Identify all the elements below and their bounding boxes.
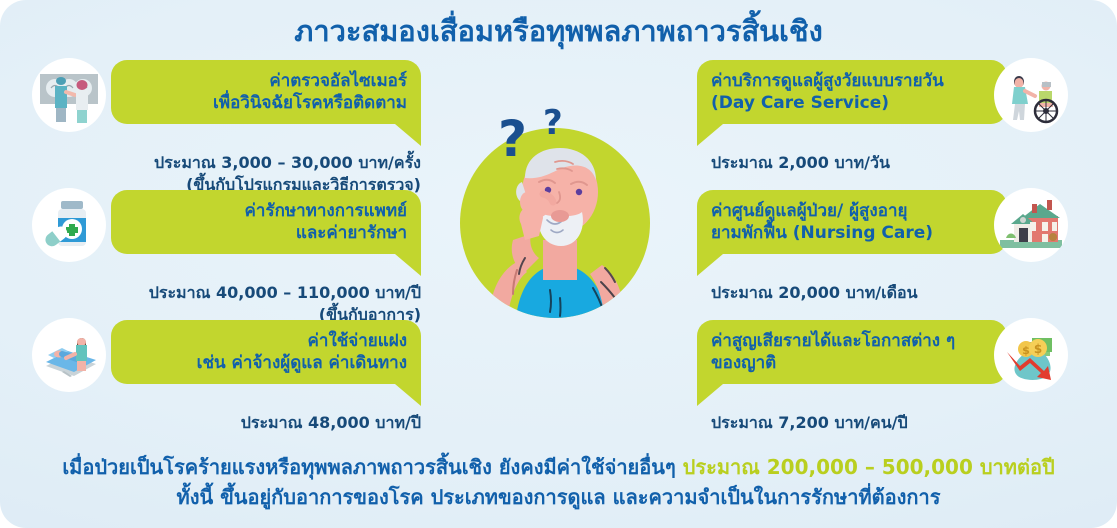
price-line-1: ประมาณ 3,000 – 30,000 บาท/ครั้ง bbox=[111, 152, 421, 174]
page-title: ภาวะสมองเสื่อมหรือทุพพลภาพถาวรสิ้นเชิง bbox=[0, 14, 1117, 49]
heading-line-1: ค่าตรวจอัลไซเมอร์ bbox=[129, 70, 407, 92]
cost-heading-bubble: ค่าตรวจอัลไซเมอร์ เพื่อวินิจฉัยโรคหรือติ… bbox=[111, 60, 421, 124]
money-loss-arrow-icon: $ $ bbox=[994, 318, 1068, 392]
heading-line-1: ค่าสูญเสียรายได้และโอกาสต่าง ๆ bbox=[711, 330, 989, 352]
price-line-1: ประมาณ 40,000 – 110,000 บาท/ปี bbox=[111, 282, 421, 304]
price-line-1: ประมาณ 2,000 บาท/วัน bbox=[711, 152, 1021, 174]
nursing-home-house-icon bbox=[994, 188, 1068, 262]
heading-line-1: ค่าใช้จ่ายแฝง bbox=[129, 330, 407, 352]
cost-heading-bubble: ค่ารักษาทางการแพทย์ และค่ายารักษา bbox=[111, 190, 421, 254]
svg-text:$: $ bbox=[1034, 342, 1042, 356]
cost-item-row: ค่าใช้จ่ายแฝง เช่น ค่าจ้างผู้ดูแล ค่าเดิ… bbox=[28, 320, 448, 450]
right-column: ค่าบริการดูแลผู้สูงวัยแบบรายวัน (Day Car… bbox=[672, 60, 1092, 450]
cost-price-text: ประมาณ 48,000 บาท/ปี bbox=[111, 412, 435, 434]
cost-item-row: ค่าศูนย์ดูแลผู้ป่วย/ ผู้สูงอายุ ยามพักฟื… bbox=[672, 190, 1092, 320]
heading-line-1: ค่าบริการดูแลผู้สูงวัยแบบรายวัน bbox=[711, 70, 989, 92]
heading-line-1: ค่ารักษาทางการแพทย์ bbox=[129, 200, 407, 222]
cost-heading-bubble: ค่าสูญเสียรายได้และโอกาสต่าง ๆ ของญาติ bbox=[697, 320, 1007, 384]
cost-price-text: ประมาณ 20,000 บาท/เดือน bbox=[697, 282, 1021, 304]
footer-line-1-text: เมื่อป่วยเป็นโรคร้ายแรงหรือทุพพลภาพถาวรส… bbox=[62, 455, 682, 479]
cost-heading-bubble: ค่าศูนย์ดูแลผู้ป่วย/ ผู้สูงอายุ ยามพักฟื… bbox=[697, 190, 1007, 254]
medicine-bottle-icon bbox=[32, 188, 106, 262]
footer-line-1: เมื่อป่วยเป็นโรคร้ายแรงหรือทุพพลภาพถาวรส… bbox=[0, 452, 1117, 482]
svg-text:$: $ bbox=[1022, 344, 1030, 357]
heading-line-1: ค่าศูนย์ดูแลผู้ป่วย/ ผู้สูงอายุ bbox=[711, 200, 989, 222]
cost-heading-bubble: ค่าบริการดูแลผู้สูงวัยแบบรายวัน (Day Car… bbox=[697, 60, 1007, 124]
cost-price-text: ประมาณ 40,000 – 110,000 บาท/ปี (ขึ้นกับอ… bbox=[111, 282, 435, 325]
price-line-1: ประมาณ 20,000 บาท/เดือน bbox=[711, 282, 1021, 304]
cost-price-text: ประมาณ 3,000 – 30,000 บาท/ครั้ง (ขึ้นกับ… bbox=[111, 152, 435, 195]
cost-item-row: ค่าบริการดูแลผู้สูงวัยแบบรายวัน (Day Car… bbox=[672, 60, 1092, 190]
infographic-root: ภาวะสมองเสื่อมหรือทุพพลภาพถาวรสิ้นเชิง bbox=[0, 0, 1117, 528]
heading-line-2: เพื่อวินิจฉัยโรคหรือติดตาม bbox=[129, 92, 407, 114]
heading-line-2: และค่ายารักษา bbox=[129, 222, 407, 244]
footer-note: เมื่อป่วยเป็นโรคร้ายแรงหรือทุพพลภาพถาวรส… bbox=[0, 452, 1117, 512]
heading-line-2: ของญาติ bbox=[711, 352, 989, 374]
footer-highlight-amount: ประมาณ 200,000 – 500,000 บาทต่อปี bbox=[683, 455, 1055, 479]
cost-item-row: ค่าตรวจอัลไซเมอร์ เพื่อวินิจฉัยโรคหรือติ… bbox=[28, 60, 448, 190]
cost-price-text: ประมาณ 2,000 บาท/วัน bbox=[697, 152, 1021, 174]
heading-line-2: เช่น ค่าจ้างผู้ดูแล ค่าเดินทาง bbox=[129, 352, 407, 374]
price-line-1: ประมาณ 48,000 บาท/ปี bbox=[111, 412, 421, 434]
heading-line-2: (Day Care Service) bbox=[711, 92, 989, 114]
footer-line-2: ทั้งนี้ ขึ้นอยู่กับอาการของโรค ประเภทของ… bbox=[0, 482, 1117, 512]
question-mark-large-icon: ? bbox=[498, 114, 527, 164]
price-line-1: ประมาณ 7,200 บาท/คน/ปี bbox=[711, 412, 1021, 434]
left-column: ค่าตรวจอัลไซเมอร์ เพื่อวินิจฉัยโรคหรือติ… bbox=[28, 60, 448, 450]
confused-elderly-man-illustration: ? ? bbox=[455, 120, 665, 340]
heading-line-2: ยามพักฟื้น (Nursing Care) bbox=[711, 222, 989, 244]
question-mark-small-icon: ? bbox=[543, 106, 563, 140]
cost-item-row: ค่ารักษาทางการแพทย์ และค่ายารักษา ประมาณ… bbox=[28, 190, 448, 320]
wheelchair-caregiver-icon bbox=[994, 58, 1068, 132]
cost-heading-bubble: ค่าใช้จ่ายแฝง เช่น ค่าจ้างผู้ดูแล ค่าเดิ… bbox=[111, 320, 421, 384]
patient-bed-therapy-icon bbox=[32, 318, 106, 392]
cost-price-text: ประมาณ 7,200 บาท/คน/ปี bbox=[697, 412, 1021, 434]
brain-scan-doctors-icon bbox=[32, 58, 106, 132]
cost-item-row: ค่าสูญเสียรายได้และโอกาสต่าง ๆ ของญาติ ป… bbox=[672, 320, 1092, 450]
